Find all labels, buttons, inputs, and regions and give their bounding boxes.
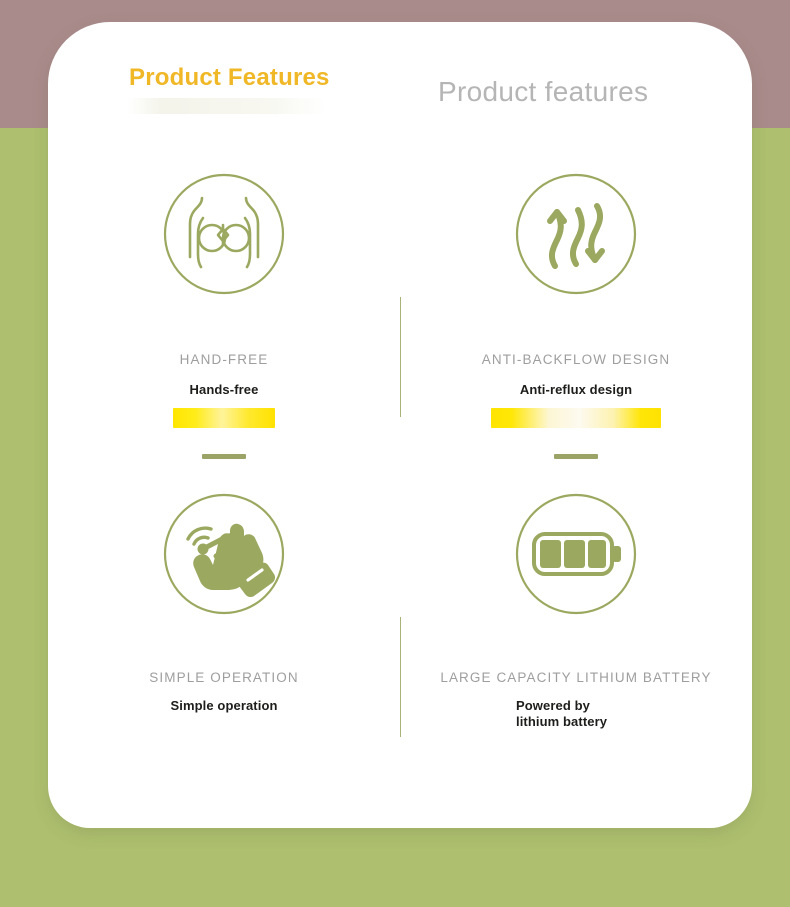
feature-label-cn-wrap: Anti-reflux design <box>400 382 752 398</box>
feature-label-en: HAND-FREE <box>48 352 400 367</box>
feature-label-cn: Hands-free <box>184 382 265 398</box>
feature-divider-dash <box>554 454 598 459</box>
feature-divider-dash <box>202 454 246 459</box>
page-subtitle: Product features <box>438 76 648 108</box>
feature-label-en: ANTI-BACKFLOW DESIGN <box>400 352 752 367</box>
feature-label-cn: Simple operation <box>164 698 283 714</box>
feature-label-cn: Anti-reflux design <box>514 382 638 398</box>
tap-hand-icon <box>162 492 286 616</box>
product-features-card: Product Features Product features <box>48 22 752 828</box>
feature-highlight <box>173 408 275 428</box>
anti-backflow-arrows-icon <box>514 172 638 296</box>
feature-highlight <box>491 408 661 428</box>
header: Product Features Product features <box>48 22 752 132</box>
hands-free-pump-icon <box>162 172 286 296</box>
title-highlight <box>127 98 327 114</box>
feature-label-cn-wrap: Simple operation <box>48 698 400 714</box>
feature-label-cn-wrap: Hands-free <box>48 382 400 398</box>
feature-label-en: LARGE CAPACITY LITHIUM BATTERY <box>400 670 752 685</box>
feature-label-cn: Powered by lithium battery <box>510 698 642 730</box>
feature-label-en: SIMPLE OPERATION <box>48 670 400 685</box>
feature-label-cn-wrap: Powered by lithium battery <box>400 698 752 730</box>
battery-icon <box>514 492 638 616</box>
page-title: Product Features <box>129 64 330 92</box>
